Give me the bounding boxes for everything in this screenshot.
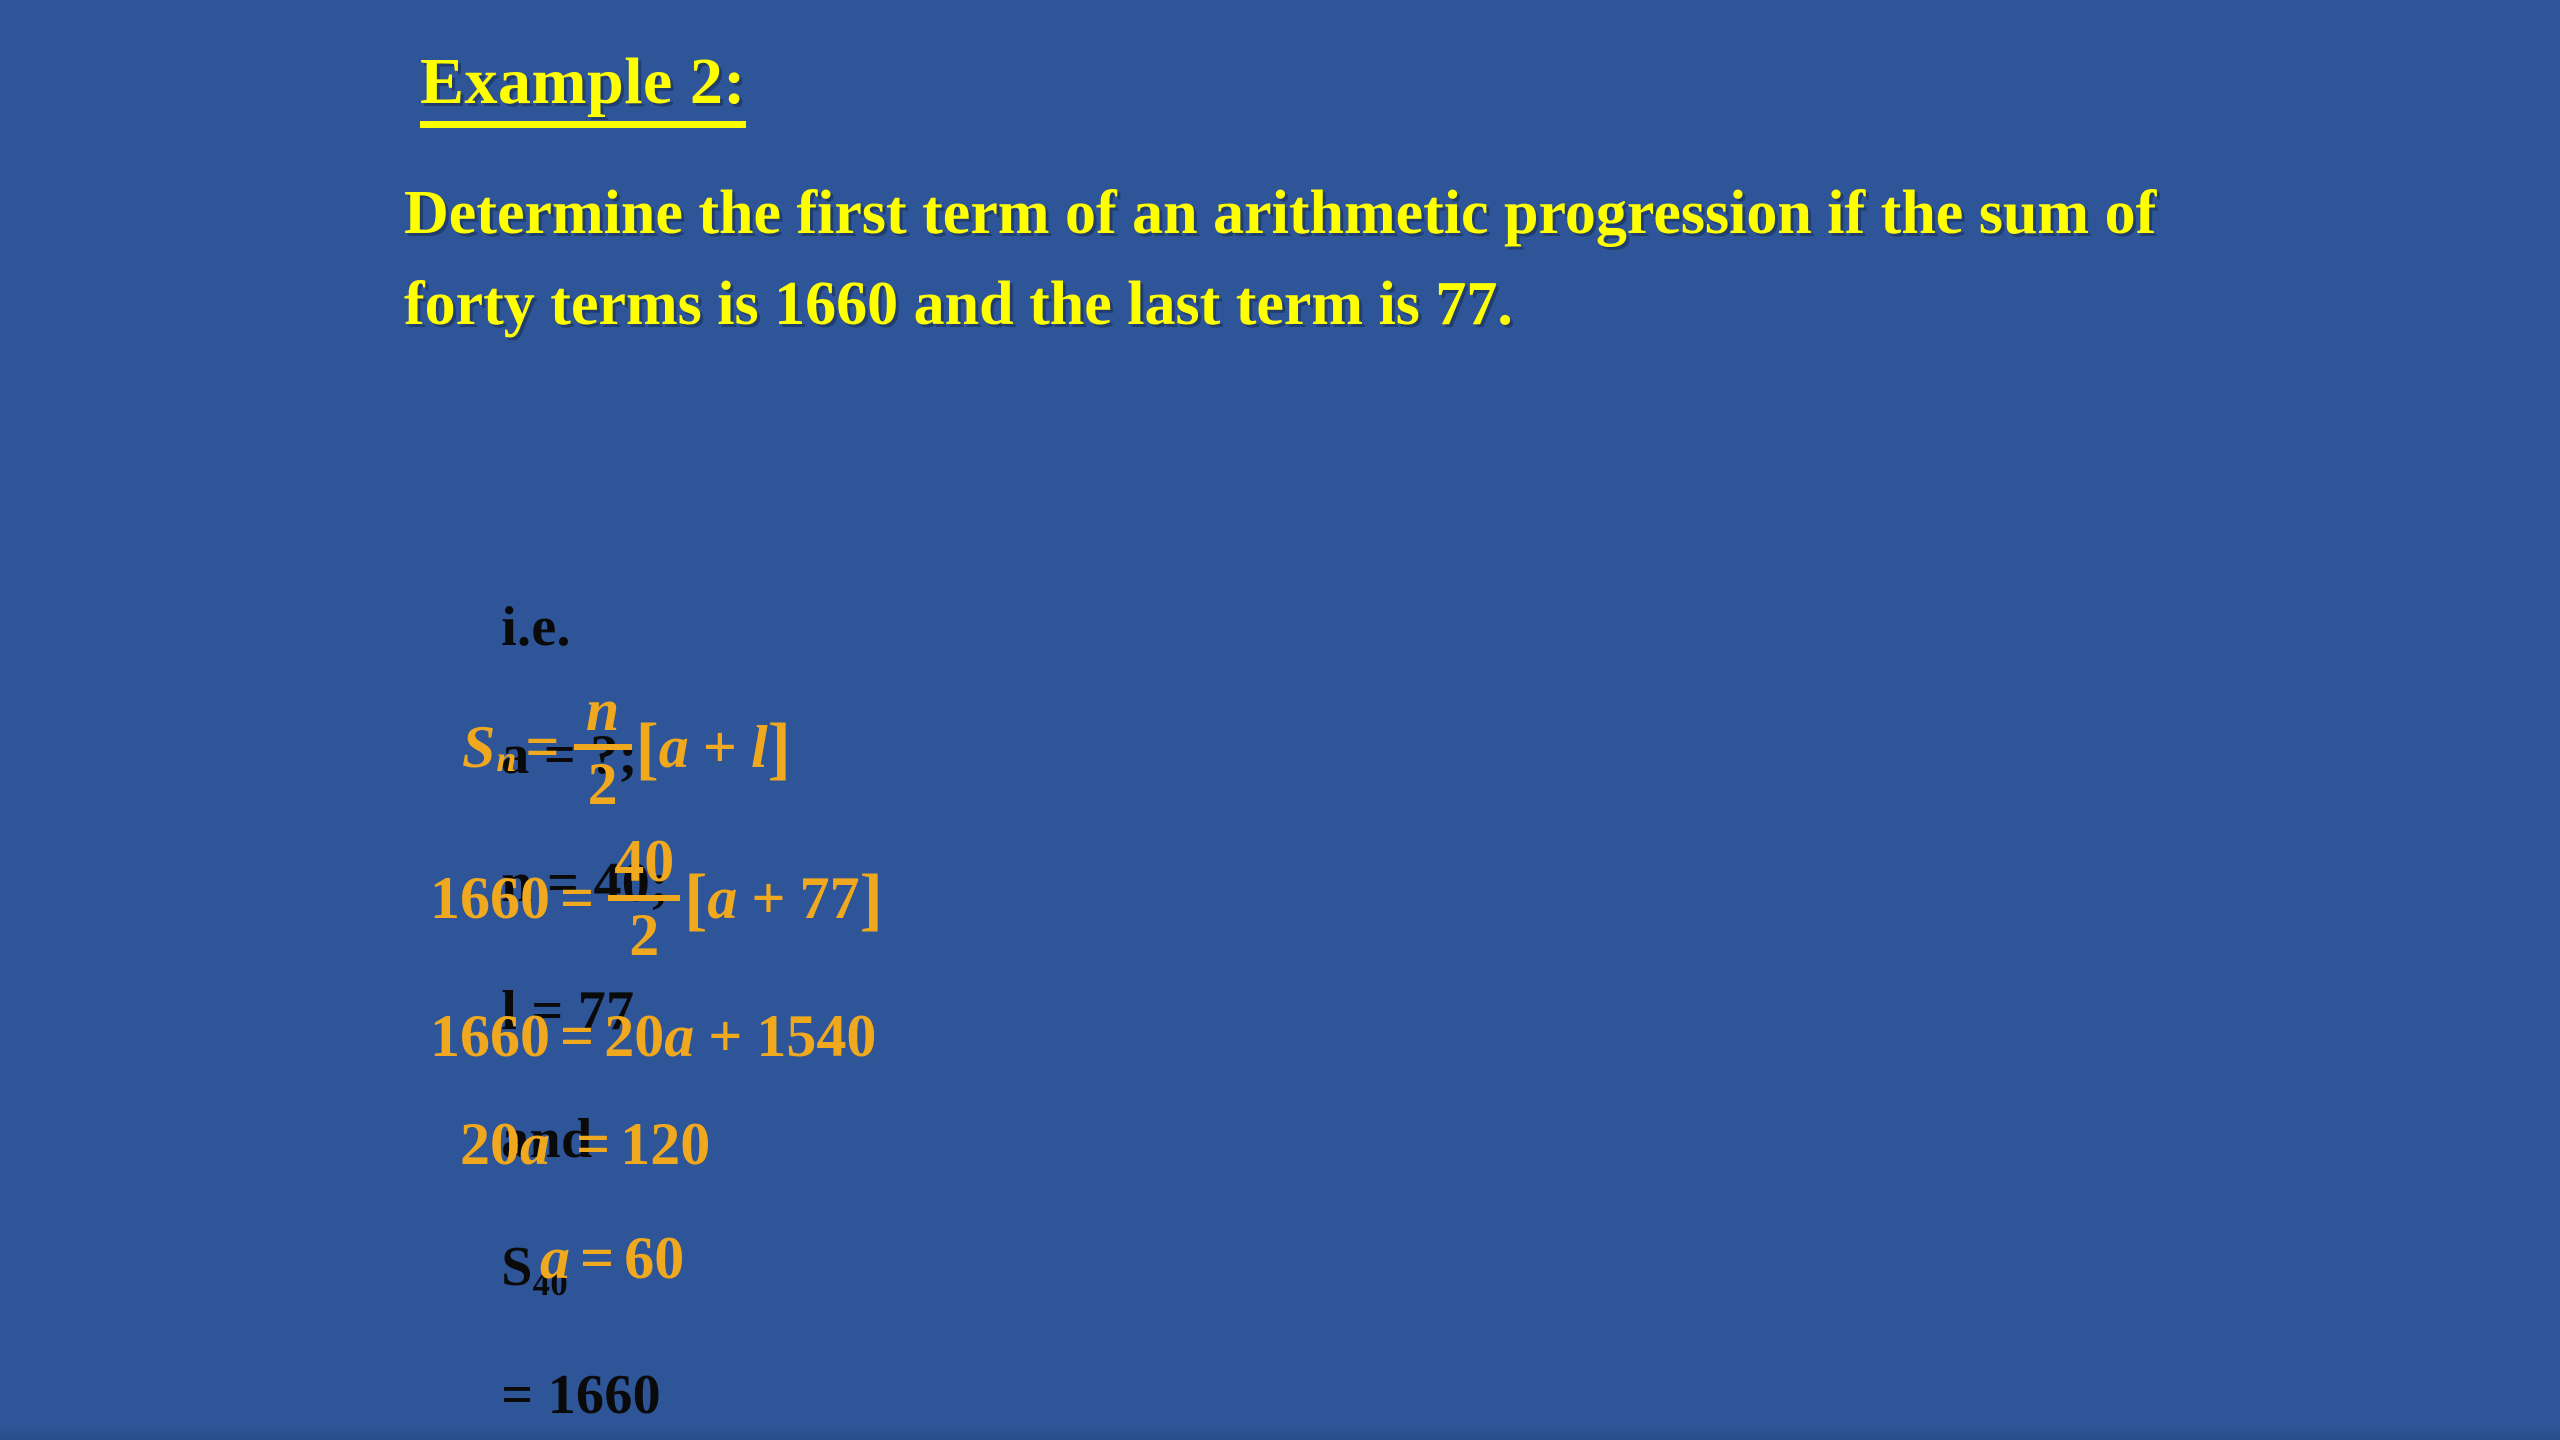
problem-statement: Determine the first term of an arithmeti… <box>404 168 2214 350</box>
eq1-term-b: l <box>751 717 768 777</box>
equation-line-3: 1660 = 20a + 1540 <box>430 984 883 1088</box>
eq2-term-a: a <box>707 868 737 928</box>
page-title: Example 2: <box>420 48 746 128</box>
equation-line-4: 20a = 120 <box>460 1092 883 1196</box>
eq2-term-b: 77 <box>800 868 860 928</box>
eq4-rhs: 120 <box>620 1114 710 1174</box>
worked-solution: Sn = n 2 [ a + l ] 1660 = 40 2 [ a + <box>430 672 883 1310</box>
eq1-term-a: a <box>659 717 689 777</box>
eq2-numerator: 40 <box>608 831 680 895</box>
eq4-variable: a <box>520 1114 550 1174</box>
eq3-lhs: 1660 <box>430 1006 550 1066</box>
eq5-rhs: 60 <box>624 1228 684 1288</box>
eq5-equals: = <box>570 1228 624 1288</box>
eq2-open-bracket: [ <box>684 869 707 932</box>
slide-canvas: Example 2: Determine the first term of a… <box>0 0 2560 1440</box>
title-block: Example 2: <box>420 48 746 128</box>
eq3-equals: = <box>550 1006 604 1066</box>
eq2-close-bracket: ] <box>860 869 883 932</box>
eq1-equals: = <box>515 717 569 777</box>
equation-line-5: a = 60 <box>540 1206 883 1310</box>
eq2-fraction: 40 2 <box>608 831 680 965</box>
eq1-plus: + <box>689 717 751 777</box>
eq2-lhs: 1660 <box>430 868 550 928</box>
equation-line-1: Sn = n 2 [ a + l ] <box>462 672 883 822</box>
eq2-equals: = <box>550 868 604 928</box>
eq4-coefficient: 20 <box>460 1114 520 1174</box>
eq1-denominator: 2 <box>582 750 624 814</box>
eq3-constant: 1540 <box>756 1006 876 1066</box>
equation-line-2: 1660 = 40 2 [ a + 77 ] <box>430 818 883 978</box>
eq1-lhs-subscript: n <box>496 741 516 777</box>
eq1-open-bracket: [ <box>636 718 659 781</box>
givens-prefix: i.e. <box>501 596 571 658</box>
eq3-plus: + <box>694 1006 756 1066</box>
eq1-close-bracket: ] <box>768 718 791 781</box>
eq1-fraction: n 2 <box>574 680 632 814</box>
eq4-equals: = <box>550 1114 620 1174</box>
given-sum-value: = 1660 <box>501 1364 661 1426</box>
eq1-lhs-symbol: S <box>462 717 495 777</box>
eq1-numerator: n <box>580 680 625 744</box>
eq2-denominator: 2 <box>623 901 665 965</box>
eq2-plus: + <box>737 868 799 928</box>
eq5-variable: a <box>540 1228 570 1288</box>
eq3-coefficient: 20 <box>604 1006 664 1066</box>
eq3-variable: a <box>664 1006 694 1066</box>
